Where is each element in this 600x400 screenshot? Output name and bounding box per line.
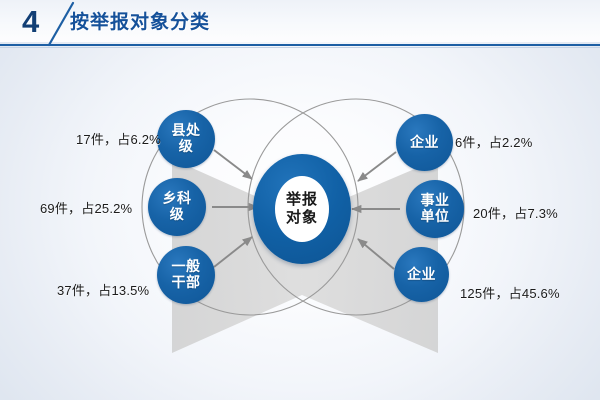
page-title: 按举报对象分类 bbox=[70, 10, 210, 36]
node-xiangkeji-line2: 级 bbox=[170, 207, 185, 223]
header-divider-rule bbox=[0, 44, 600, 46]
value-label-nongcun: 125件，占45.6% bbox=[460, 283, 560, 302]
node-qiye-line1: 企业 bbox=[410, 135, 439, 151]
center-node-reported-object[interactable]: 举报 对象 bbox=[253, 154, 351, 264]
value-label-xiangkeji: 69件，占25.2% bbox=[40, 198, 132, 217]
node-yibanganbu-line2: 干部 bbox=[172, 275, 201, 291]
value-label-qiye: 6件，占2.2% bbox=[455, 132, 532, 151]
center-node-label-line2: 对象 bbox=[286, 209, 318, 227]
node-xianchuji[interactable]: 县处 级 bbox=[157, 110, 215, 168]
center-node-label: 举报 对象 bbox=[275, 176, 329, 242]
slide-page: 4 按举报对象分类 bbox=[0, 0, 600, 400]
arrow-xianchu-to-center bbox=[214, 150, 252, 179]
node-yibanganbu-line1: 一般 bbox=[172, 259, 201, 275]
node-nongcun-line1: 企业 bbox=[407, 267, 436, 283]
arrow-qiye-to-center bbox=[358, 152, 396, 181]
value-label-yibanganbu: 37件，占13.5% bbox=[57, 280, 149, 299]
node-nongcun[interactable]: 企业 bbox=[394, 247, 449, 302]
node-qiye[interactable]: 企业 bbox=[396, 114, 453, 171]
node-xianchuji-line1: 县处 bbox=[172, 123, 201, 139]
node-xianchuji-line2: 级 bbox=[179, 139, 194, 155]
node-xiangkeji-line1: 乡科 bbox=[163, 191, 192, 207]
center-node-label-line1: 举报 bbox=[286, 191, 318, 209]
slide-header: 4 按举报对象分类 bbox=[0, 0, 600, 47]
node-shiyedanwei-line2: 单位 bbox=[421, 209, 450, 225]
value-label-xianchuji: 17件，占6.2% bbox=[76, 129, 161, 148]
section-number: 4 bbox=[22, 5, 38, 39]
node-xiangkeji[interactable]: 乡科 级 bbox=[148, 178, 206, 236]
node-yibanganbu[interactable]: 一般 干部 bbox=[157, 246, 215, 304]
node-shiyedanwei[interactable]: 事业 单位 bbox=[406, 180, 464, 238]
value-label-shiyedanwei: 20件，占7.3% bbox=[473, 203, 558, 222]
node-shiyedanwei-line1: 事业 bbox=[421, 193, 450, 209]
